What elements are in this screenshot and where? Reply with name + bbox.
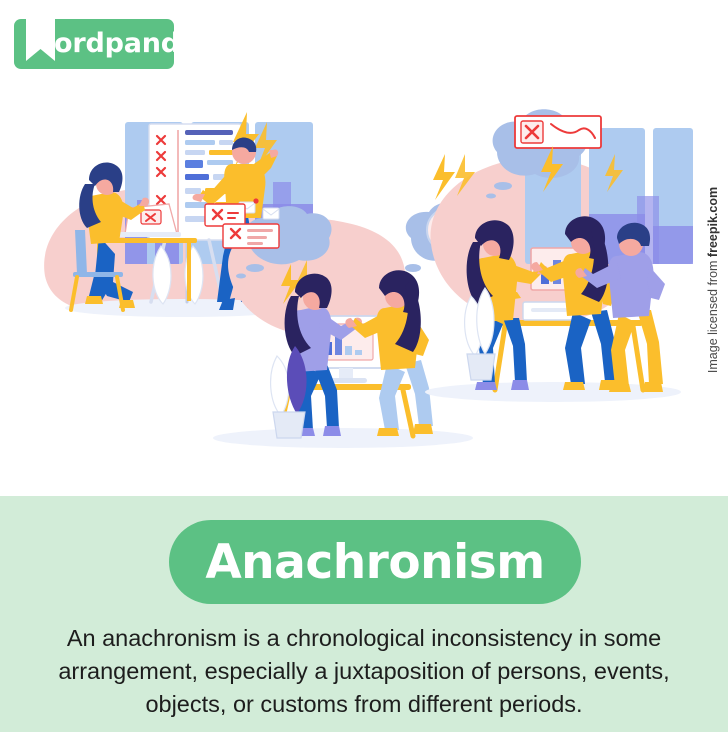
image-credit: Image licensed from freepik.com	[700, 0, 726, 560]
argument-scene	[425, 109, 693, 402]
hero-illustration	[33, 96, 693, 452]
credit-source: freepik.com	[706, 187, 720, 257]
potted-plant-right	[465, 288, 495, 380]
potted-plant	[271, 346, 307, 438]
page-title: Anachronism	[205, 539, 544, 586]
illustration-svg	[33, 96, 693, 452]
word-pill: Anachronism	[169, 520, 581, 604]
wordpandit-logo[interactable]: ordpandit	[14, 19, 174, 69]
logo-wordmark: ordpandit	[54, 19, 202, 69]
word-of-the-day-card: ordpandit Image licensed from freepik.co…	[0, 0, 728, 732]
definition-text: An anachronism is a chronological incons…	[36, 622, 692, 721]
credit-prefix: Image licensed from	[706, 257, 720, 373]
